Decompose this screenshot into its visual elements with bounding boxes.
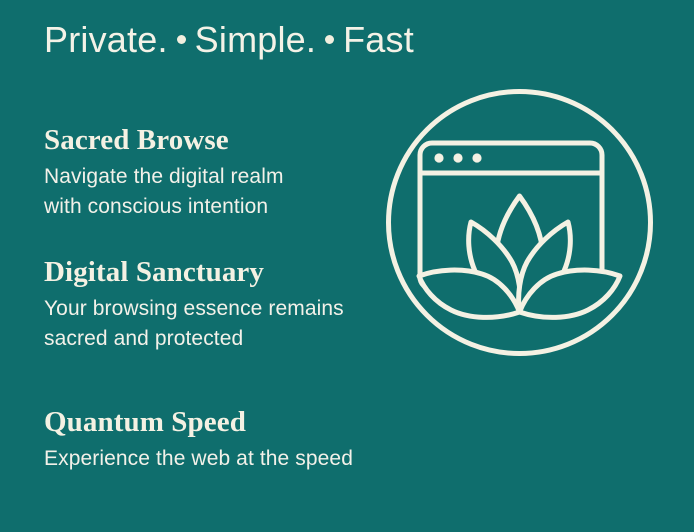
feature-list: Sacred Browse Navigate the digital realm… xyxy=(44,122,384,474)
feature-title: Quantum Speed xyxy=(44,404,384,440)
feature-description: Experience the web at the speed xyxy=(44,444,384,474)
headline-part-fast: Fast xyxy=(343,19,414,60)
page-headline: Private.Simple.Fast xyxy=(44,18,414,62)
feature-description-line: sacred and protected xyxy=(44,324,384,354)
feature-description-line: with conscious intention xyxy=(44,192,384,222)
feature-description-line: Your browsing essence remains xyxy=(44,294,384,324)
titlebar-dot-icon xyxy=(453,153,462,162)
feature-item-digital-sanctuary: Digital Sanctuary Your browsing essence … xyxy=(44,254,384,354)
feature-description: Navigate the digital realm with consciou… xyxy=(44,162,384,222)
titlebar-dot-icon xyxy=(434,153,443,162)
feature-description: Your browsing essence remains sacred and… xyxy=(44,294,384,354)
bullet-dot-icon xyxy=(325,35,334,44)
feature-description-line: Experience the web at the speed xyxy=(44,444,384,474)
lotus-browser-icon xyxy=(383,86,656,359)
feature-title: Digital Sanctuary xyxy=(44,254,384,290)
promo-screen: Private.Simple.Fast Sacred Browse Naviga… xyxy=(0,0,694,532)
feature-title: Sacred Browse xyxy=(44,122,384,158)
bullet-dot-icon xyxy=(177,35,186,44)
feature-description-line: Navigate the digital realm xyxy=(44,162,384,192)
titlebar-dot-icon xyxy=(472,153,481,162)
headline-part-private: Private. xyxy=(44,19,168,60)
headline-part-simple: Simple. xyxy=(195,19,316,60)
feature-item-sacred-browse: Sacred Browse Navigate the digital realm… xyxy=(44,122,384,222)
feature-item-quantum-speed: Quantum Speed Experience the web at the … xyxy=(44,404,384,474)
